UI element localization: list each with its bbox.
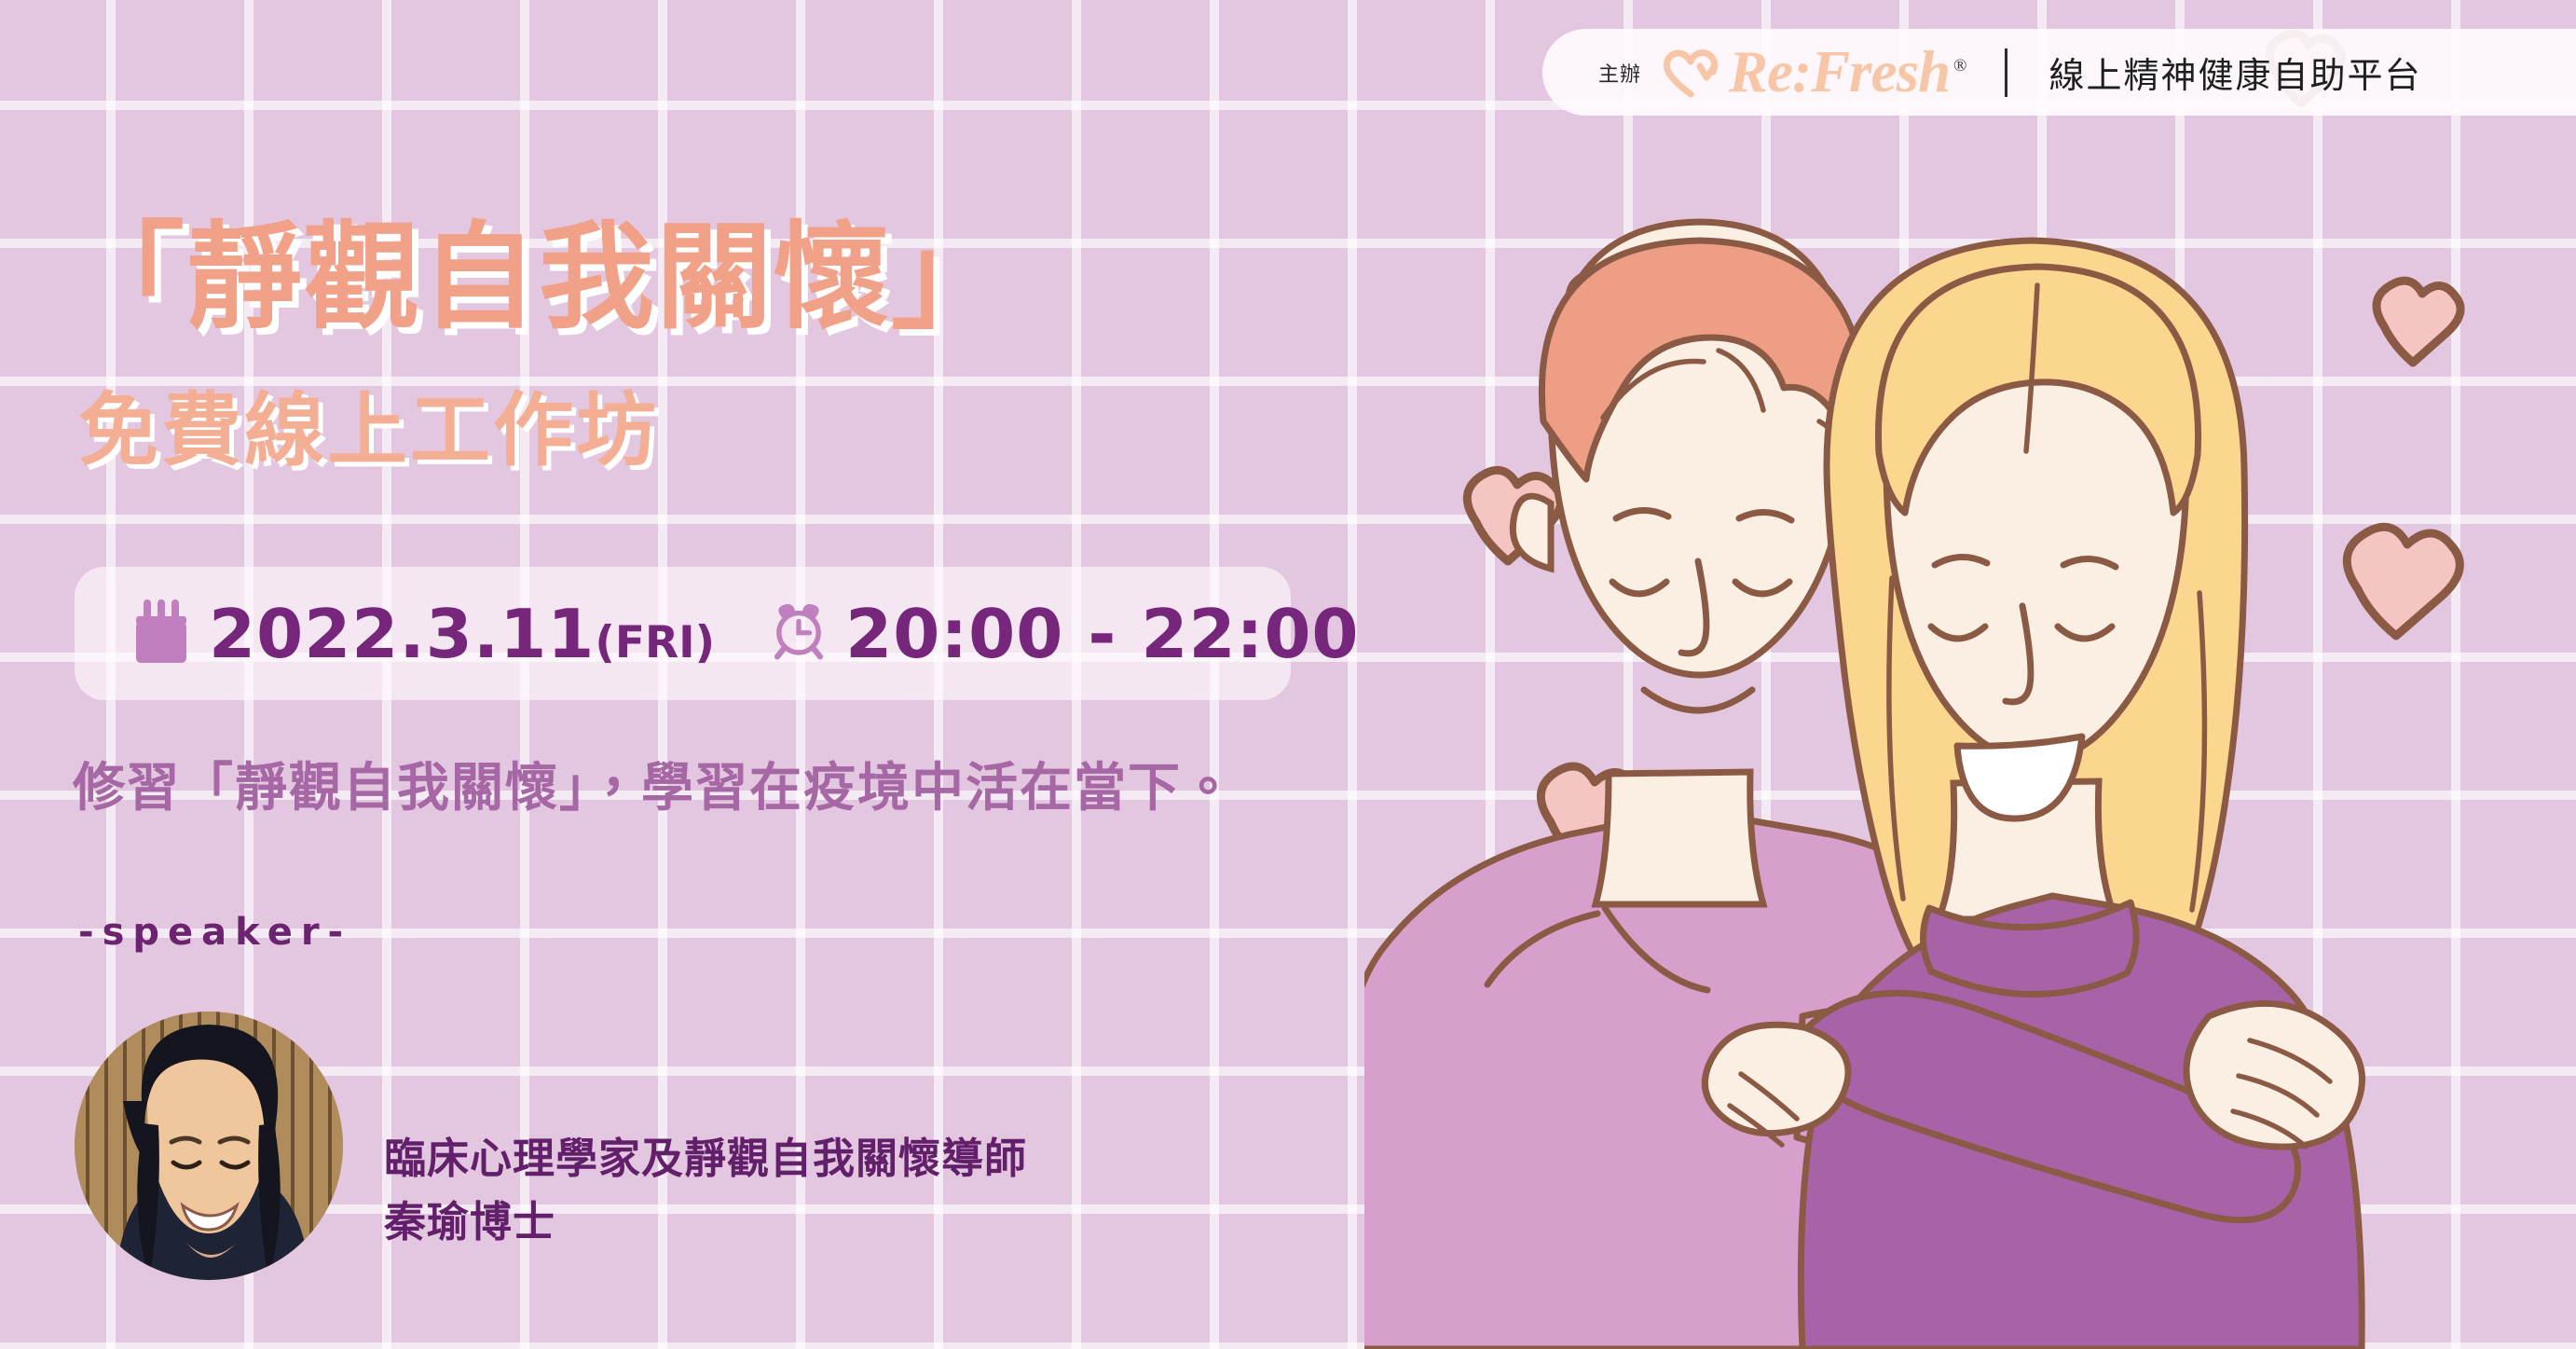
logo-divider [2005, 48, 2007, 97]
promo-banner: .ol{fill:none;stroke:#8B5A45;stroke-widt… [0, 0, 2576, 1349]
event-time: 20:00 - 22:00 [845, 600, 1359, 668]
alarm-clock-icon [771, 601, 827, 666]
speaker-info: 臨床心理學家及靜觀自我關懷導師 秦瑜博士 [384, 1045, 1027, 1246]
speaker-name: 秦瑜博士 [384, 1198, 1027, 1246]
datetime-pill: 2022.3.11(FRI) 20:00 - 22:00 [75, 567, 1291, 700]
refresh-logo[interactable]: Re:Fresh® [1662, 43, 1966, 102]
content-column: 「靜觀自我關懷」 免費線上工作坊 2022.3.11(FRI) [0, 0, 1417, 1349]
event-date: 2022.3.11(FRI) [209, 600, 715, 668]
page-title: 「靜觀自我關懷」 [69, 216, 1008, 341]
event-day-of-week: (FRI) [595, 617, 715, 668]
calendar-icon [132, 598, 190, 669]
sponsor-badge: 主辦 Re:Fresh® 線上精神健康自助平台 [1542, 29, 2576, 116]
page-subtitle: 免費線上工作坊 [78, 387, 659, 475]
person-left [1364, 222, 2126, 1349]
event-tagline: 修習「靜觀自我關懷」，學習在疫境中活在當下。 [73, 746, 1236, 821]
heart-refresh-icon [1662, 48, 1720, 98]
registered-trademark-icon: ® [1953, 56, 1966, 76]
speaker-block: 臨床心理學家及靜觀自我關懷導師 秦瑜博士 [75, 1012, 1027, 1280]
sponsor-label: 主辦 [1598, 58, 1641, 88]
person-right [1705, 241, 2362, 1349]
sponsor-tagline: 線上精神健康自助平台 [2048, 47, 2421, 98]
refresh-wordmark: Re:Fresh® [1729, 43, 1966, 102]
speaker-kicker: -speaker- [78, 911, 351, 954]
time-group: 20:00 - 22:00 [771, 600, 1359, 668]
speaker-role: 臨床心理學家及靜觀自我關懷導師 [384, 1135, 1027, 1183]
date-group: 2022.3.11(FRI) [132, 598, 715, 669]
heart-decoration [1467, 34, 2460, 864]
event-date-value: 2022.3.11 [209, 595, 595, 673]
refresh-word-text: Re:Fresh [1729, 39, 1950, 104]
illustration-two-people-hug: .ol{fill:none;stroke:#8B5A45;stroke-widt… [1364, 0, 2576, 1349]
speaker-avatar [75, 1012, 343, 1280]
